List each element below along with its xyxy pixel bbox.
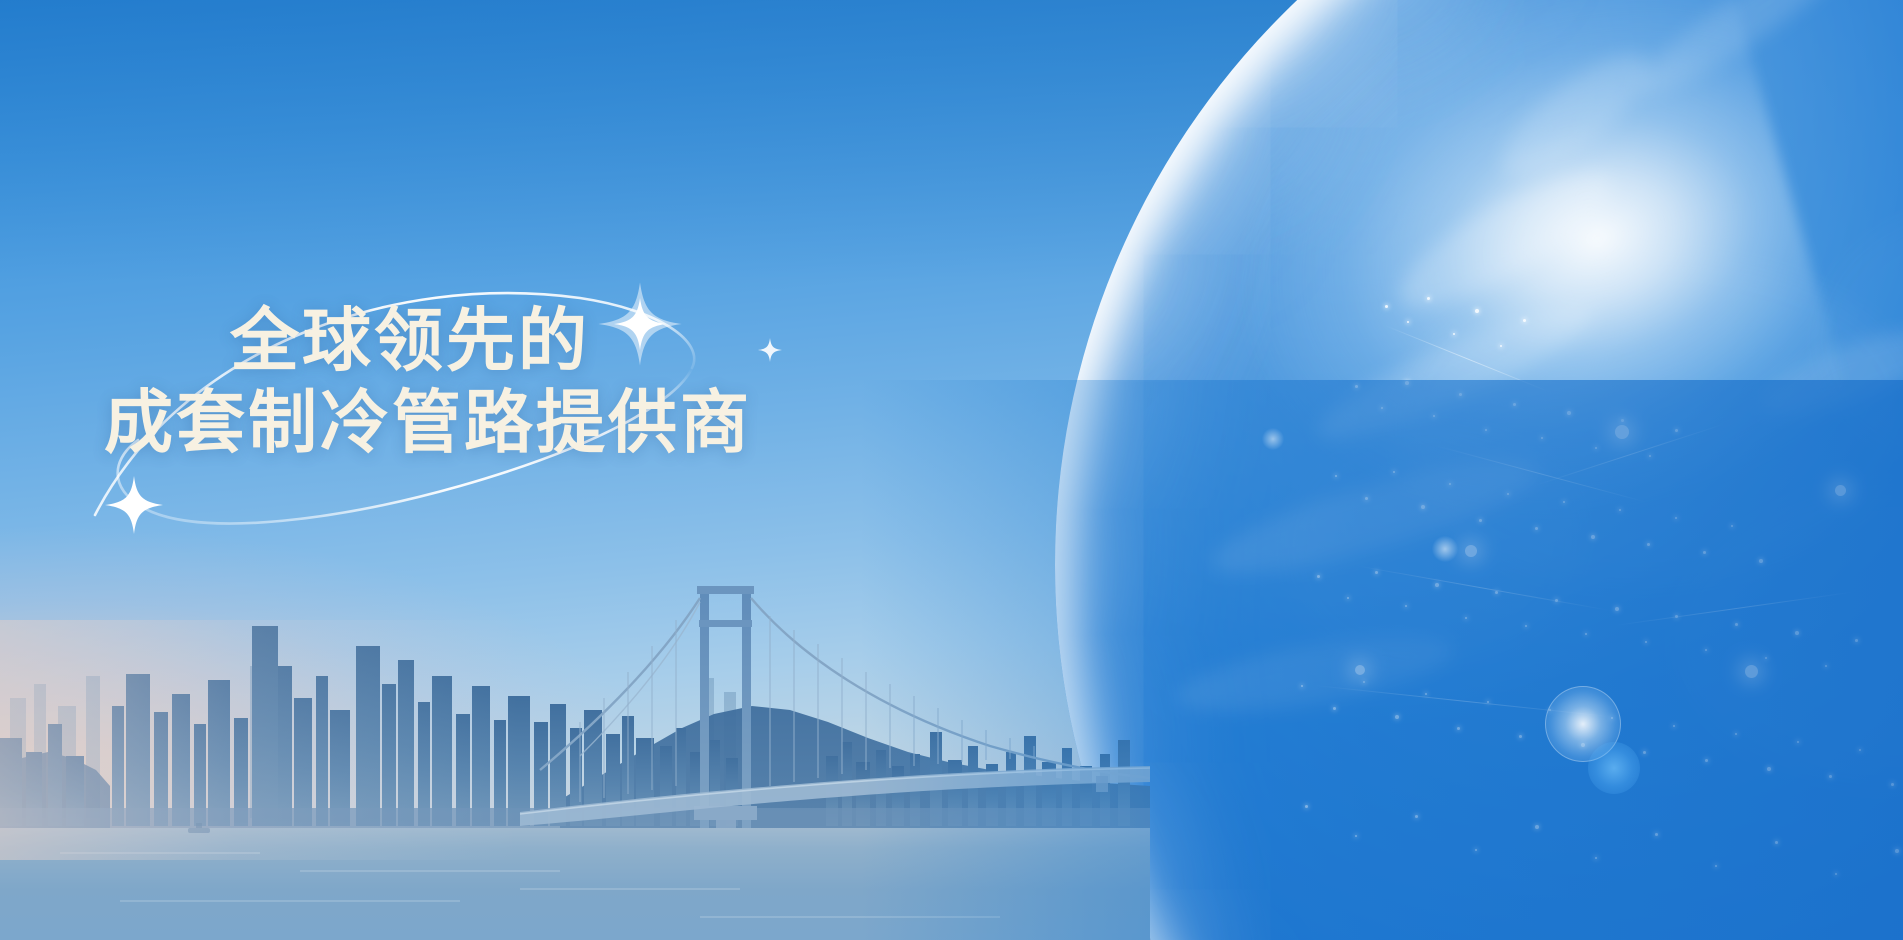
globe-container [0,0,1903,940]
headline-line-1: 全球领先的 [230,300,864,382]
headline-block: 全球领先的 成套制冷管路提供商 [104,300,864,464]
headline-line-2: 成套制冷管路提供商 [104,382,864,464]
hero-banner: 全球领先的 成套制冷管路提供商 [0,0,1903,940]
